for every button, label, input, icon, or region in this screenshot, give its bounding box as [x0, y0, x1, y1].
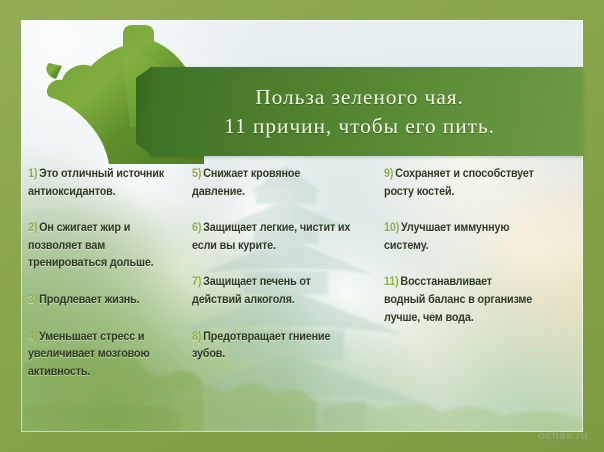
benefit-number: 7) — [192, 275, 201, 288]
benefit-item: 2)Он сжигает жир и позволяет вам трениро… — [28, 219, 166, 272]
benefits-columns: 1)Это отличный источник антиоксидантов. … — [8, 165, 554, 380]
title-line-2: 11 причин, чтобы его пить. — [224, 112, 495, 141]
benefit-item: 8)Предотвращает гниение зубов. — [192, 328, 354, 363]
benefits-column-2: 5)Снижает кровяное давление. 6)Защищает … — [184, 165, 374, 380]
benefit-text: Это отличный источник антиоксидантов. — [28, 167, 164, 198]
benefit-number: 11) — [384, 275, 399, 288]
benefit-text: Защищает печень от действий алкоголя. — [192, 275, 311, 306]
benefit-number: 6) — [192, 221, 201, 234]
green-tea-benefits-poster: Польза зеленого чая. 11 причин, чтобы ег… — [0, 0, 604, 452]
benefit-item: 11)Восстанавливает водный баланс в орган… — [384, 273, 535, 326]
benefit-number: 8) — [192, 330, 201, 343]
title-banner: Польза зеленого чая. 11 причин, чтобы ег… — [150, 67, 583, 156]
benefit-item: 1)Это отличный источник антиоксидантов. — [28, 165, 166, 200]
benefit-item: 6)Защищает легкие, чистит их если вы кур… — [192, 219, 354, 254]
benefit-text: Улучшает иммунную систему. — [384, 221, 509, 252]
benefit-number: 9) — [384, 167, 393, 180]
benefit-text: Уменьшает стресс и увеличивает мозговою … — [28, 330, 150, 378]
benefits-column-1: 1)Это отличный источник антиоксидантов. … — [8, 165, 184, 380]
benefit-text: Предотвращает гниение зубов. — [192, 330, 330, 361]
benefit-item: 10)Улучшает иммунную систему. — [384, 219, 535, 254]
benefit-number: 1) — [28, 167, 37, 180]
benefit-number: 5) — [192, 167, 201, 180]
benefit-text: Сохраняет и способствует росту костей. — [384, 167, 534, 198]
benefit-text: Он сжигает жир и позволяет вам тренирова… — [28, 221, 154, 269]
benefit-item: 7)Защищает печень от действий алкоголя. — [192, 273, 354, 308]
benefit-item: 5)Снижает кровяное давление. — [192, 165, 354, 200]
benefit-number: 10) — [384, 221, 399, 234]
benefits-column-3: 9)Сохраняет и способствует росту костей.… — [374, 165, 554, 380]
benefit-item: 3)Продлевает жизнь. — [28, 291, 166, 309]
benefit-item: 4)Уменьшает стресс и увеличивает мозгово… — [28, 328, 166, 381]
benefit-number: 4) — [28, 330, 37, 343]
benefit-text: Снижает кровяное давление. — [192, 167, 300, 198]
title-line-1: Польза зеленого чая. — [255, 83, 464, 112]
source-watermark: ochae.ru — [538, 430, 588, 442]
benefit-text: Защищает легкие, чистит их если вы курит… — [192, 221, 350, 252]
benefit-text: Восстанавливает водный баланс в организм… — [384, 275, 532, 323]
benefit-number: 3) — [28, 293, 37, 306]
benefit-text: Продлевает жизнь. — [39, 293, 139, 306]
benefit-item: 9)Сохраняет и способствует росту костей. — [384, 165, 535, 200]
benefit-number: 2) — [28, 221, 37, 234]
